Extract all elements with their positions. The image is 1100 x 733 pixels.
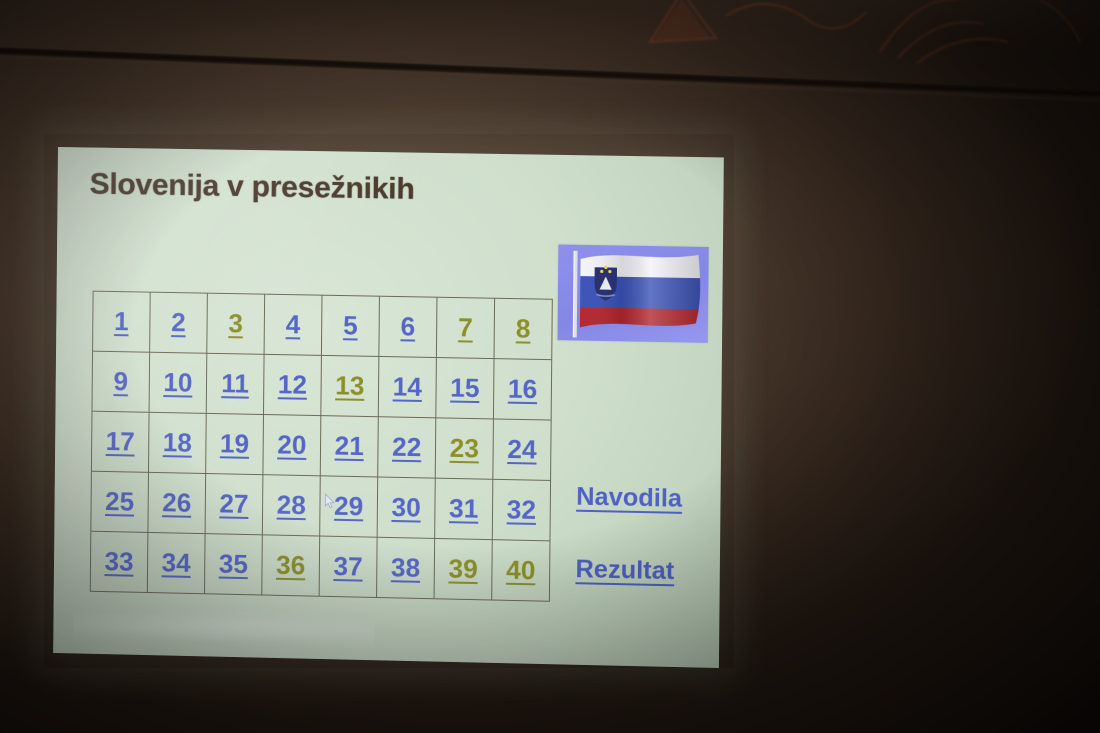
number-link-15[interactable]: 15 (450, 374, 479, 401)
number-cell[interactable]: 9 (92, 351, 150, 412)
table-row: 910111213141516 (92, 351, 552, 420)
number-link-19[interactable]: 19 (220, 430, 249, 457)
number-cell[interactable]: 26 (148, 472, 206, 533)
number-link-2[interactable]: 2 (171, 309, 186, 335)
number-cell[interactable]: 4 (264, 294, 322, 355)
number-link-32[interactable]: 32 (507, 496, 537, 523)
number-cell[interactable]: 36 (262, 535, 320, 596)
number-link-36[interactable]: 36 (276, 552, 305, 579)
number-link-17[interactable]: 17 (106, 428, 135, 455)
number-link-9[interactable]: 9 (113, 368, 128, 394)
number-cell[interactable]: 21 (320, 416, 378, 477)
number-cell[interactable]: 34 (147, 532, 205, 593)
number-cell[interactable]: 13 (321, 355, 379, 416)
number-link-1[interactable]: 1 (114, 308, 129, 334)
number-link-13[interactable]: 13 (335, 372, 364, 399)
number-cell[interactable]: 27 (205, 474, 263, 535)
number-cell[interactable]: 14 (378, 356, 436, 417)
number-cell[interactable]: 33 (90, 531, 148, 592)
table-row: 2526272829303132 (91, 471, 551, 541)
number-link-23[interactable]: 23 (450, 435, 479, 462)
number-cell[interactable]: 39 (434, 538, 492, 600)
number-link-25[interactable]: 25 (105, 488, 134, 515)
number-cell[interactable]: 28 (262, 475, 320, 536)
number-link-16[interactable]: 16 (508, 375, 538, 402)
number-link-30[interactable]: 30 (391, 494, 420, 521)
number-link-28[interactable]: 28 (277, 491, 306, 518)
number-link-38[interactable]: 38 (391, 554, 420, 581)
table-row: 3334353637383940 (90, 531, 550, 601)
number-cell[interactable]: 40 (492, 540, 550, 602)
number-link-33[interactable]: 33 (104, 548, 133, 575)
projected-slide-scene: Slovenija v presežnikih 1234567891011121… (0, 0, 1100, 733)
number-cell[interactable]: 30 (377, 477, 435, 538)
number-link-6[interactable]: 6 (400, 313, 415, 339)
number-link-29[interactable]: 29 (334, 493, 363, 520)
number-link-3[interactable]: 3 (228, 310, 243, 336)
flag-graphic (557, 244, 708, 342)
page-title: Slovenija v presežnikih (89, 168, 414, 207)
table-row: 12345678 (93, 291, 553, 360)
number-cell[interactable]: 3 (207, 293, 265, 354)
number-cell[interactable]: 19 (206, 413, 264, 474)
number-link-10[interactable]: 10 (163, 369, 192, 396)
slovenian-flag-image (557, 244, 708, 342)
number-cell[interactable]: 7 (436, 297, 494, 358)
number-link-27[interactable]: 27 (219, 490, 248, 517)
number-link-34[interactable]: 34 (162, 549, 191, 576)
number-link-31[interactable]: 31 (449, 495, 478, 522)
number-cell[interactable]: 35 (204, 534, 262, 595)
number-cell[interactable]: 8 (494, 298, 552, 359)
projection-dust-specks (73, 607, 375, 650)
number-cell[interactable]: 23 (435, 418, 493, 479)
number-cell[interactable]: 1 (93, 291, 151, 352)
number-link-39[interactable]: 39 (448, 555, 477, 582)
number-link-5[interactable]: 5 (343, 312, 358, 338)
number-table-body: 1234567891011121314151617181920212223242… (90, 291, 552, 601)
number-cell[interactable]: 10 (149, 352, 207, 413)
number-link-11[interactable]: 11 (221, 370, 249, 397)
number-link-35[interactable]: 35 (219, 550, 248, 577)
number-link-7[interactable]: 7 (458, 314, 473, 340)
number-link-37[interactable]: 37 (333, 553, 362, 580)
number-cell[interactable]: 38 (377, 537, 435, 599)
table-row: 1718192021222324 (91, 411, 551, 480)
question-number-grid: 1234567891011121314151617181920212223242… (90, 291, 553, 602)
number-link-20[interactable]: 20 (277, 431, 306, 458)
wall-mural-drawing (630, 0, 1100, 64)
number-cell[interactable]: 12 (263, 354, 321, 415)
number-cell[interactable]: 31 (435, 478, 493, 540)
rezultat-link[interactable]: Rezultat (575, 555, 674, 586)
navodila-link[interactable]: Navodila (576, 482, 682, 513)
number-link-22[interactable]: 22 (392, 434, 421, 461)
number-table: 1234567891011121314151617181920212223242… (90, 291, 553, 602)
number-cell[interactable]: 20 (263, 414, 321, 475)
number-link-21[interactable]: 21 (335, 432, 364, 459)
number-cell[interactable]: 15 (436, 358, 494, 419)
number-cell[interactable]: 17 (91, 411, 149, 472)
number-cell[interactable]: 18 (148, 412, 206, 473)
number-cell[interactable]: 29 (320, 476, 378, 537)
number-cell[interactable]: 22 (378, 417, 436, 478)
number-cell[interactable]: 5 (321, 295, 379, 356)
number-cell[interactable]: 2 (150, 292, 208, 353)
number-cell[interactable]: 25 (91, 471, 149, 532)
number-link-18[interactable]: 18 (163, 429, 192, 456)
number-cell[interactable]: 16 (493, 359, 551, 420)
number-cell[interactable]: 37 (319, 536, 377, 597)
slide-surface: Slovenija v presežnikih 1234567891011121… (53, 147, 724, 668)
number-cell[interactable]: 6 (379, 296, 437, 357)
number-cell[interactable]: 11 (206, 353, 264, 414)
number-link-24[interactable]: 24 (507, 436, 537, 463)
number-link-4[interactable]: 4 (286, 311, 301, 337)
number-link-8[interactable]: 8 (516, 315, 531, 341)
number-link-12[interactable]: 12 (278, 371, 307, 398)
number-link-14[interactable]: 14 (393, 373, 422, 400)
number-cell[interactable]: 24 (493, 419, 551, 481)
number-link-26[interactable]: 26 (162, 489, 191, 516)
number-link-40[interactable]: 40 (506, 557, 536, 584)
number-cell[interactable]: 32 (492, 479, 550, 541)
